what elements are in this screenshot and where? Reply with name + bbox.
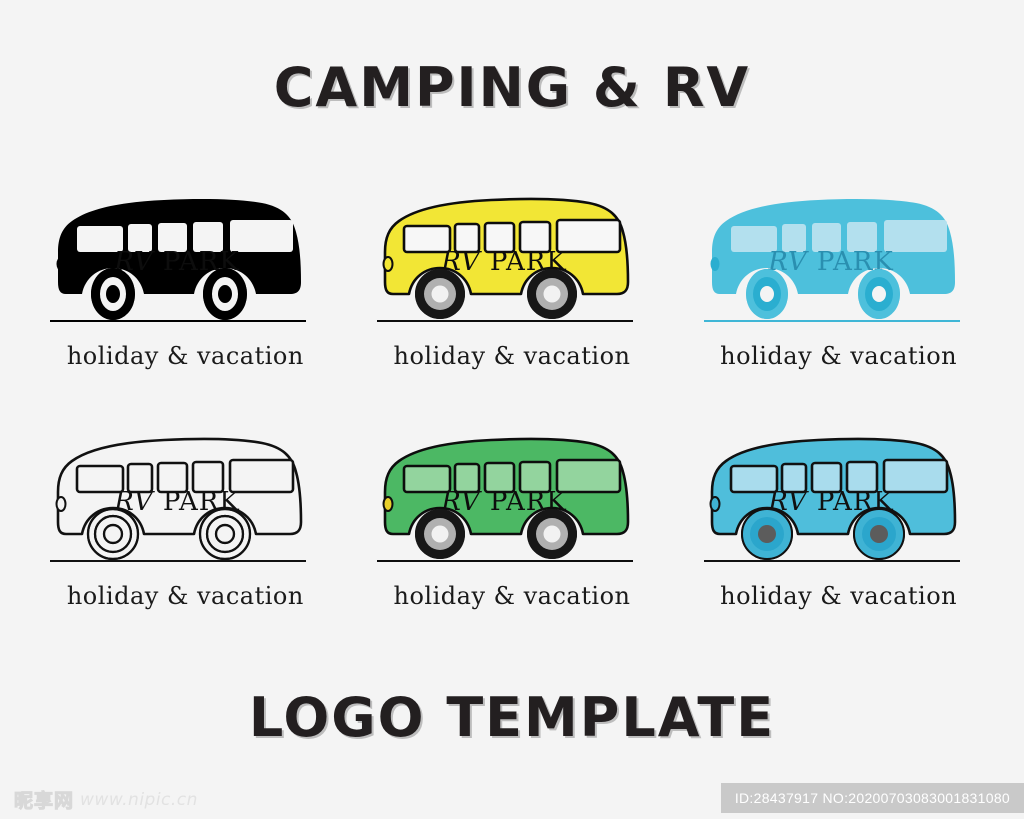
- watermark-logo: 昵享网 www.nipic.cn: [14, 786, 198, 813]
- logo-tagline: holiday & vacation: [720, 582, 957, 610]
- watermark-id-badge: ID:28437917 NO:20200703083001831080: [721, 783, 1024, 813]
- artboard: CAMPING & RV RV PARK: [0, 0, 1024, 819]
- van-wheel: [742, 509, 792, 559]
- van-wheel: [415, 269, 465, 319]
- van-illustration-van-white: RV PARK: [44, 426, 326, 574]
- logo-tagline: holiday & vacation: [394, 582, 631, 610]
- van-illustration-van-green: RV PARK: [371, 426, 653, 574]
- van-wheel: [527, 509, 577, 559]
- van-illustration-van-black: RV PARK: [44, 186, 326, 334]
- van-wheel: [527, 269, 577, 319]
- van-wheel: [854, 509, 904, 559]
- logo-grid: RV PARK holiday & vacation RV PARK: [22, 186, 1002, 666]
- van-headlight: [57, 257, 66, 271]
- watermark-bar: 昵享网 www.nipic.cn ID:28437917 NO:20200703…: [0, 780, 1024, 819]
- van-badge-text: RV PARK: [114, 487, 241, 517]
- logo-card-green-outlined-van[interactable]: RV PARK holiday & vacation: [349, 426, 676, 666]
- van-wheel: [203, 268, 247, 320]
- van-headlight: [383, 257, 392, 271]
- logo-card-black-silhouette-van[interactable]: RV PARK holiday & vacation: [22, 186, 349, 426]
- van-wheel: [858, 269, 900, 319]
- watermark-site-url: www.nipic.cn: [80, 790, 198, 810]
- van-illustration-van-cyan: RV PARK: [698, 186, 980, 334]
- logo-tagline: holiday & vacation: [67, 582, 304, 610]
- page-title-top: CAMPING & RV: [0, 56, 1024, 119]
- van-wheel: [200, 509, 250, 559]
- van-headlight: [710, 257, 719, 271]
- van-wheel: [746, 269, 788, 319]
- logo-card-cyan-silhouette-van[interactable]: RV PARK holiday & vacation: [675, 186, 1002, 426]
- van-wheel: [415, 509, 465, 559]
- van-wheel: [91, 268, 135, 320]
- logo-tagline: holiday & vacation: [67, 342, 304, 370]
- van-illustration-van-blue: RV PARK: [698, 426, 980, 574]
- van-headlight: [383, 497, 392, 511]
- logo-card-yellow-outlined-van[interactable]: RV PARK holiday & vacation: [349, 186, 676, 426]
- logo-card-blue-outlined-van[interactable]: RV PARK holiday & vacation: [675, 426, 1002, 666]
- van-headlight: [57, 497, 66, 511]
- logo-card-outline-only-van[interactable]: RV PARK holiday & vacation: [22, 426, 349, 666]
- page-title-bottom: LOGO TEMPLATE: [0, 686, 1024, 749]
- van-headlight: [710, 497, 719, 511]
- van-illustration-van-yellow: RV PARK: [371, 186, 653, 334]
- logo-tagline: holiday & vacation: [394, 342, 631, 370]
- van-wheel: [88, 509, 138, 559]
- logo-tagline: holiday & vacation: [720, 342, 957, 370]
- watermark-site-name-cn: 昵享网: [14, 786, 74, 813]
